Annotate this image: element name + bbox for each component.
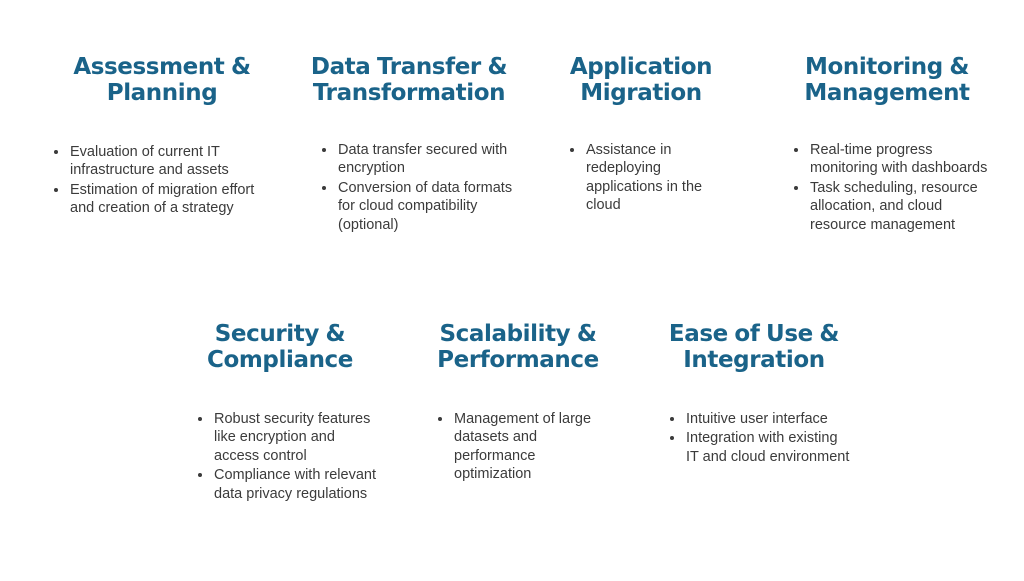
bullet-dot-icon (438, 417, 442, 421)
feature-row-top: Assessment & Planning Evaluation of curr… (0, 55, 1024, 235)
list-item: Management of large datasets and perform… (436, 410, 616, 484)
list-item-label: Conversion of data formats for cloud com… (338, 180, 512, 233)
list-item: Robust security features like encryption… (196, 410, 378, 466)
bullet-list: Robust security features like encryption… (196, 410, 378, 504)
feature-card-application-migration: Application Migration Assistance in rede… (546, 55, 736, 216)
feature-card-security-compliance: Security & Compliance Robust security fe… (182, 322, 378, 504)
list-item-label: Robust security features like encryption… (214, 411, 370, 464)
bullet-dot-icon (670, 436, 674, 440)
list-item-label: Data transfer secured with encryption (338, 142, 507, 177)
bullet-list: Intuitive user interface Integration wit… (668, 410, 854, 467)
bullet-list: Evaluation of current IT infrastructure … (52, 143, 282, 218)
bullet-dot-icon (54, 188, 58, 192)
card-body: Management of large datasets and perform… (436, 410, 616, 484)
bullet-dot-icon (570, 148, 574, 152)
list-item: Compliance with relevant data privacy re… (196, 466, 378, 503)
list-item-label: Compliance with relevant data privacy re… (214, 467, 376, 502)
feature-card-assessment-planning: Assessment & Planning Evaluation of curr… (42, 55, 282, 219)
bullet-list: Management of large datasets and perform… (436, 410, 616, 484)
list-item: Real-time progress monitoring with dashb… (792, 141, 996, 178)
feature-card-ease-of-use-integration: Ease of Use & Integration Intuitive user… (654, 322, 854, 467)
card-body: Intuitive user interface Integration wit… (668, 410, 854, 467)
feature-row-bottom: Security & Compliance Robust security fe… (0, 322, 1024, 504)
list-item-label: Evaluation of current IT infrastructure … (70, 144, 229, 179)
card-title: Security & Compliance (182, 322, 378, 374)
list-item-label: Estimation of migration effort and creat… (70, 182, 254, 217)
bullet-dot-icon (794, 148, 798, 152)
bullet-dot-icon (54, 150, 58, 154)
list-item: Estimation of migration effort and creat… (52, 181, 282, 218)
bullet-list: Assistance in redeploying applications i… (568, 141, 736, 215)
bullet-dot-icon (322, 148, 326, 152)
card-body: Data transfer secured with encryption Co… (320, 141, 524, 235)
card-body: Robust security features like encryption… (196, 410, 378, 504)
bullet-dot-icon (198, 417, 202, 421)
list-item: Intuitive user interface (668, 410, 854, 429)
card-title: Application Migration (546, 55, 736, 107)
bullet-dot-icon (794, 186, 798, 190)
card-title: Ease of Use & Integration (654, 322, 854, 374)
card-body: Evaluation of current IT infrastructure … (52, 143, 282, 218)
feature-card-scalability-performance: Scalability & Performance Management of … (420, 322, 616, 485)
list-item: Assistance in redeploying applications i… (568, 141, 736, 215)
bullet-dot-icon (670, 417, 674, 421)
list-item: Conversion of data formats for cloud com… (320, 179, 524, 235)
list-item: Evaluation of current IT infrastructure … (52, 143, 282, 180)
card-body: Real-time progress monitoring with dashb… (792, 141, 996, 235)
list-item: Data transfer secured with encryption (320, 141, 524, 178)
feature-card-monitoring-management: Monitoring & Management Real-time progre… (778, 55, 996, 235)
list-item-label: Task scheduling, resource allocation, an… (810, 180, 978, 233)
list-item-label: Management of large datasets and perform… (454, 411, 591, 483)
card-title: Assessment & Planning (42, 55, 282, 107)
card-title: Data Transfer & Transformation (294, 55, 524, 107)
list-item-label: Intuitive user interface (686, 411, 828, 427)
bullet-list: Real-time progress monitoring with dashb… (792, 141, 996, 235)
list-item: Integration with existing IT and cloud e… (668, 429, 854, 466)
list-item-label: Real-time progress monitoring with dashb… (810, 142, 987, 177)
slide-canvas: Assessment & Planning Evaluation of curr… (0, 0, 1024, 581)
feature-card-data-transfer-transformation: Data Transfer & Transformation Data tran… (294, 55, 524, 235)
bullet-list: Data transfer secured with encryption Co… (320, 141, 524, 235)
list-item-label: Integration with existing IT and cloud e… (686, 430, 849, 465)
list-item-label: Assistance in redeploying applications i… (586, 142, 702, 214)
card-body: Assistance in redeploying applications i… (568, 141, 736, 215)
bullet-dot-icon (322, 186, 326, 190)
list-item: Task scheduling, resource allocation, an… (792, 179, 996, 235)
card-title: Monitoring & Management (778, 55, 996, 107)
card-title: Scalability & Performance (420, 322, 616, 374)
bullet-dot-icon (198, 473, 202, 477)
